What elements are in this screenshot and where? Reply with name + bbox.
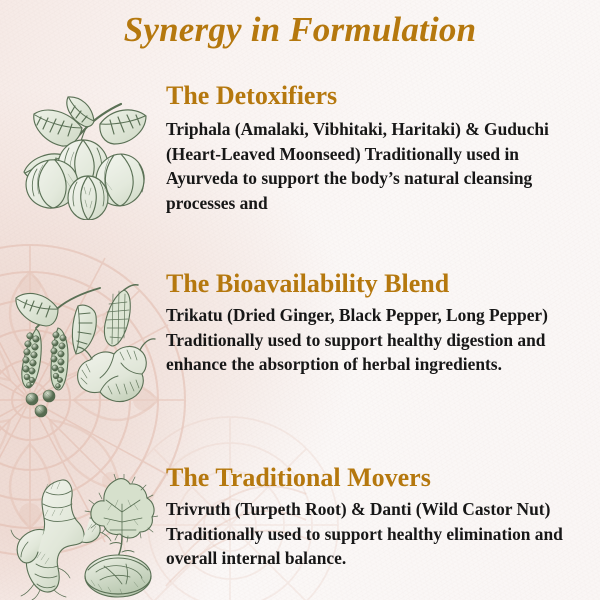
- bioavailability-text-column: The Bioavailability Blend Trikatu (Dried…: [166, 268, 590, 377]
- page-title: Synergy in Formulation: [0, 8, 600, 52]
- turpeth-root-castor-nut-illustration: [8, 474, 158, 600]
- infographic-poster: Synergy in Formulation: [0, 0, 600, 600]
- triphala-fruits-illustration: [8, 88, 158, 220]
- section-body-bioavailability-blend: Trikatu (Dried Ginger, Black Pepper, Lon…: [166, 303, 590, 377]
- section-traditional-movers: The Traditional Movers Trivruth (Turpeth…: [0, 462, 600, 594]
- detoxifiers-text-column: The Detoxifiers Triphala (Amalaki, Vibhi…: [166, 80, 590, 215]
- traditional-movers-text-column: The Traditional Movers Trivruth (Turpeth…: [166, 462, 590, 571]
- trikatu-pepper-ginger-illustration: [8, 282, 158, 422]
- section-heading-bioavailability-blend: The Bioavailability Blend: [166, 268, 590, 300]
- section-body-detoxifiers: Triphala (Amalaki, Vibhitaki, Haritaki) …: [166, 117, 590, 215]
- section-heading-detoxifiers: The Detoxifiers: [166, 80, 590, 112]
- section-body-traditional-movers: Trivruth (Turpeth Root) & Danti (Wild Ca…: [166, 497, 590, 571]
- section-bioavailability-blend: The Bioavailability Blend Trikatu (Dried…: [0, 268, 600, 428]
- section-heading-traditional-movers: The Traditional Movers: [166, 462, 590, 494]
- section-detoxifiers: The Detoxifiers Triphala (Amalaki, Vibhi…: [0, 80, 600, 230]
